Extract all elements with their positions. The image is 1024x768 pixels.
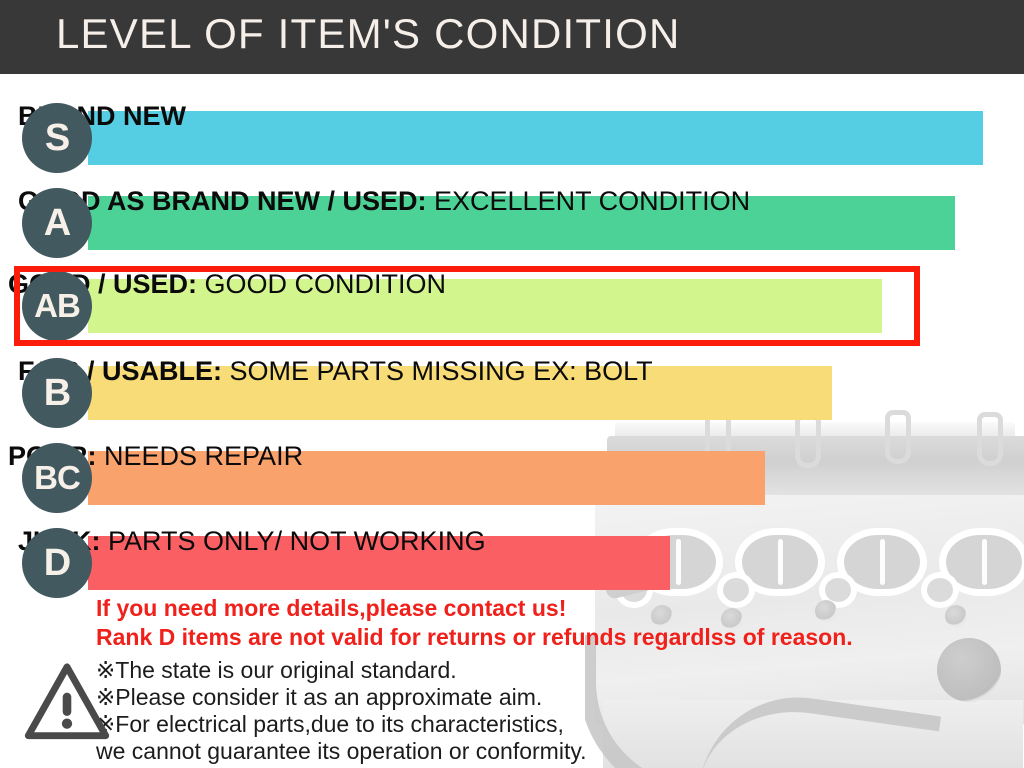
rank-badge-b: B [22,358,92,428]
rank-row-b: FAIR / USABLE: SOME PARTS MISSING EX: BO… [0,358,1024,428]
rank-badge-a: A [22,188,92,258]
notice-contact-line: If you need more details,please contact … [96,595,566,622]
condition-level-infographic: LEVEL OF ITEM'S CONDITION BRAND NEW S GO… [0,0,1024,768]
rank-rest-a: EXCELLENT CONDITION [427,186,751,216]
header-bar: LEVEL OF ITEM'S CONDITION [0,0,1024,74]
rank-badge-s: S [22,103,92,173]
rank-row-a: GOOD AS BRAND NEW / USED: EXCELLENT COND… [0,188,1024,258]
page-title: LEVEL OF ITEM'S CONDITION [56,10,681,58]
rank-row-s: BRAND NEW S [0,103,1024,173]
rank-bar-s [88,111,983,165]
note-line-4: we cannot guarantee its operation or con… [96,738,587,765]
rank-row-d: JUNK: PARTS ONLY/ NOT WORKING D [0,528,1024,598]
rank-badge-d: D [22,528,92,598]
note-line-1: ※The state is our original standard. [96,657,457,684]
rank-rest-d: PARTS ONLY/ NOT WORKING [101,526,486,556]
rank-rest-bc: NEEDS REPAIR [97,441,304,471]
note-line-3: ※For electrical parts,due to its charact… [96,711,564,738]
note-line-2: ※Please consider it as an approximate ai… [96,684,542,711]
rank-rest-b: SOME PARTS MISSING EX: BOLT [222,356,653,386]
notice-rank-d-line: Rank D items are not valid for returns o… [96,624,853,651]
rank-label-a: GOOD AS BRAND NEW / USED: EXCELLENT COND… [18,188,750,215]
rank-label-b: FAIR / USABLE: SOME PARTS MISSING EX: BO… [18,358,653,385]
rank-row-bc: POOR: NEEDS REPAIR BC [0,443,1024,513]
rank-badge-bc: BC [22,443,92,513]
highlight-box-ab [14,266,920,346]
warning-triangle-icon [24,660,110,746]
